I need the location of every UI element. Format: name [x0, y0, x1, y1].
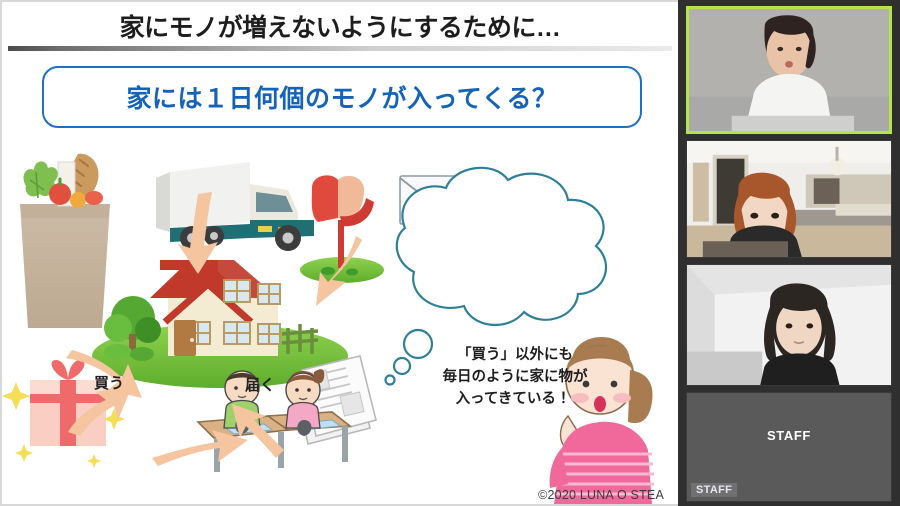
participant-2-video: [687, 141, 891, 257]
delivery-truck-icon: [156, 162, 314, 251]
video-tile-participant-3[interactable]: [686, 264, 892, 386]
label-deliver: 届く: [245, 374, 275, 395]
thought-bubble-text: 「買う」以外にも 毎日のように家に物が 入ってきている ！: [400, 345, 630, 410]
shared-slide[interactable]: 家にモノが増えないようにするために… 家には１日何個のモノが入ってくる？: [0, 0, 678, 506]
copyright-notice: ©2020 LUNA O STEA: [538, 488, 664, 502]
screen-share-meeting-window: 家にモノが増えないようにするために… 家には１日何個のモノが入ってくる？: [0, 0, 900, 506]
question-callout-box: 家には１日何個のモノが入ってくる？: [42, 66, 642, 128]
participant-name-badge: STAFF: [691, 483, 737, 497]
participant-1-video: [689, 9, 889, 131]
bubble-line-1: 「買う」以外にも: [400, 345, 630, 367]
participant-3-video: [687, 265, 891, 385]
illustration-graphics: [2, 132, 678, 504]
page-title: 家にモノが増えないようにするために…: [2, 8, 678, 44]
bubble-line-2: 毎日のように家に物が: [400, 367, 630, 389]
label-buy: 買う: [94, 372, 124, 393]
slide-illustration: 買う 届く もらう 持ち帰る 「買う」以外にも 毎日のように家に物が 入ってきて…: [2, 132, 678, 504]
video-tile-participant-1[interactable]: [686, 6, 892, 134]
question-callout-text: 家には１日何個のモノが入ってくる？: [126, 79, 557, 115]
staff-placeholder-label: STAFF: [687, 428, 891, 443]
bubble-line-3: 入ってきている ！: [400, 389, 630, 411]
title-divider: [8, 46, 672, 51]
video-tile-participant-4[interactable]: STAFF STAFF: [686, 392, 892, 502]
participant-video-rail[interactable]: STAFF STAFF: [678, 0, 900, 506]
grocery-bag-icon: [20, 154, 110, 328]
video-tile-participant-2[interactable]: [686, 140, 892, 258]
